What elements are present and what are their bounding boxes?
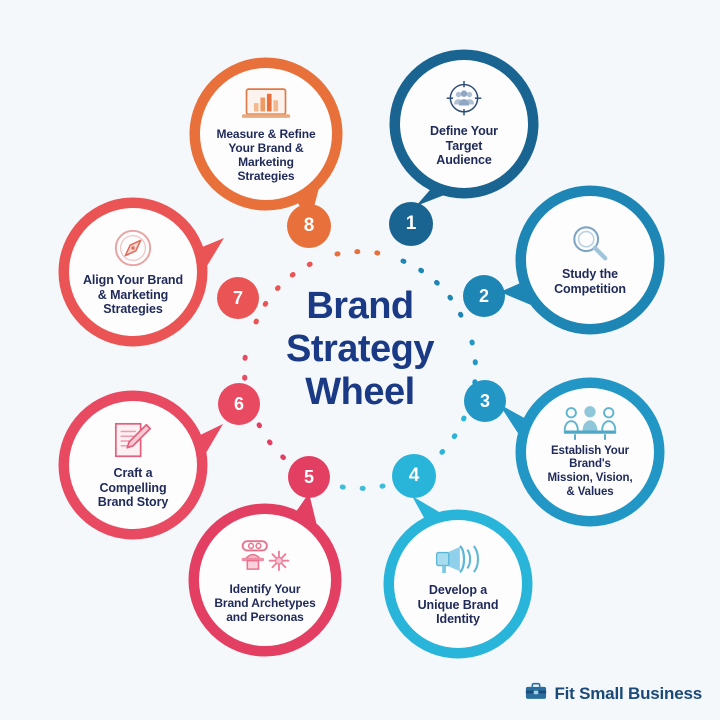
step-badge-1[interactable]: 1 bbox=[389, 202, 433, 246]
team-meeting-icon bbox=[560, 405, 620, 441]
title-line-2: Strategy bbox=[255, 328, 465, 371]
step-label-4: Develop a Unique Brand Identity bbox=[408, 583, 509, 627]
step-node-8[interactable]: Measure & Refine Your Brand & Marketing … bbox=[200, 68, 332, 200]
step-label-2: Study the Competition bbox=[544, 267, 636, 297]
footer-logo[interactable]: Fit Small Business bbox=[525, 682, 702, 706]
step-badge-5[interactable]: 5 bbox=[288, 456, 330, 498]
step-badge-8[interactable]: 8 bbox=[287, 204, 331, 248]
infographic-canvas: Define Your Target Audience Study the Co… bbox=[0, 0, 720, 720]
step-label-1: Define Your Target Audience bbox=[420, 124, 508, 168]
target-audience-icon bbox=[442, 80, 486, 120]
step-label-5: Identify Your Brand Archetypes and Perso… bbox=[204, 582, 325, 624]
document-pen-icon bbox=[111, 420, 155, 462]
step-badge-3[interactable]: 3 bbox=[464, 380, 506, 422]
megaphone-icon bbox=[432, 541, 484, 579]
step-node-6[interactable]: Craft a Compelling Brand Story bbox=[69, 401, 197, 529]
title-line-3: Wheel bbox=[255, 371, 465, 414]
step-badge-7[interactable]: 7 bbox=[217, 277, 259, 319]
bar-chart-laptop-icon bbox=[240, 85, 292, 123]
title-line-1: Brand bbox=[255, 285, 465, 328]
step-label-7: Align Your Brand & Marketing Strategies bbox=[73, 273, 193, 317]
page-title: Brand Strategy Wheel bbox=[255, 285, 465, 414]
step-node-4[interactable]: Develop a Unique Brand Identity bbox=[394, 520, 522, 648]
step-node-5[interactable]: Identify Your Brand Archetypes and Perso… bbox=[199, 514, 331, 646]
step-label-3: Establish Your Brand's Mission, Vision, … bbox=[537, 445, 642, 499]
step-node-1[interactable]: Define Your Target Audience bbox=[400, 60, 528, 188]
step-badge-4[interactable]: 4 bbox=[392, 454, 436, 498]
footer-brand-text: Fit Small Business bbox=[554, 684, 702, 704]
briefcase-icon bbox=[525, 682, 547, 706]
step-node-3[interactable]: Establish Your Brand's Mission, Vision, … bbox=[526, 388, 654, 516]
step-label-6: Craft a Compelling Brand Story bbox=[88, 466, 178, 510]
step-label-8: Measure & Refine Your Brand & Marketing … bbox=[206, 127, 325, 184]
masks-persona-icon bbox=[238, 536, 292, 578]
compass-icon bbox=[112, 227, 154, 269]
step-node-7[interactable]: Align Your Brand & Marketing Strategies bbox=[69, 208, 197, 336]
step-node-2[interactable]: Study the Competition bbox=[526, 196, 654, 324]
step-badge-2[interactable]: 2 bbox=[463, 275, 505, 317]
magnifier-icon bbox=[569, 223, 611, 263]
step-badge-6[interactable]: 6 bbox=[218, 383, 260, 425]
